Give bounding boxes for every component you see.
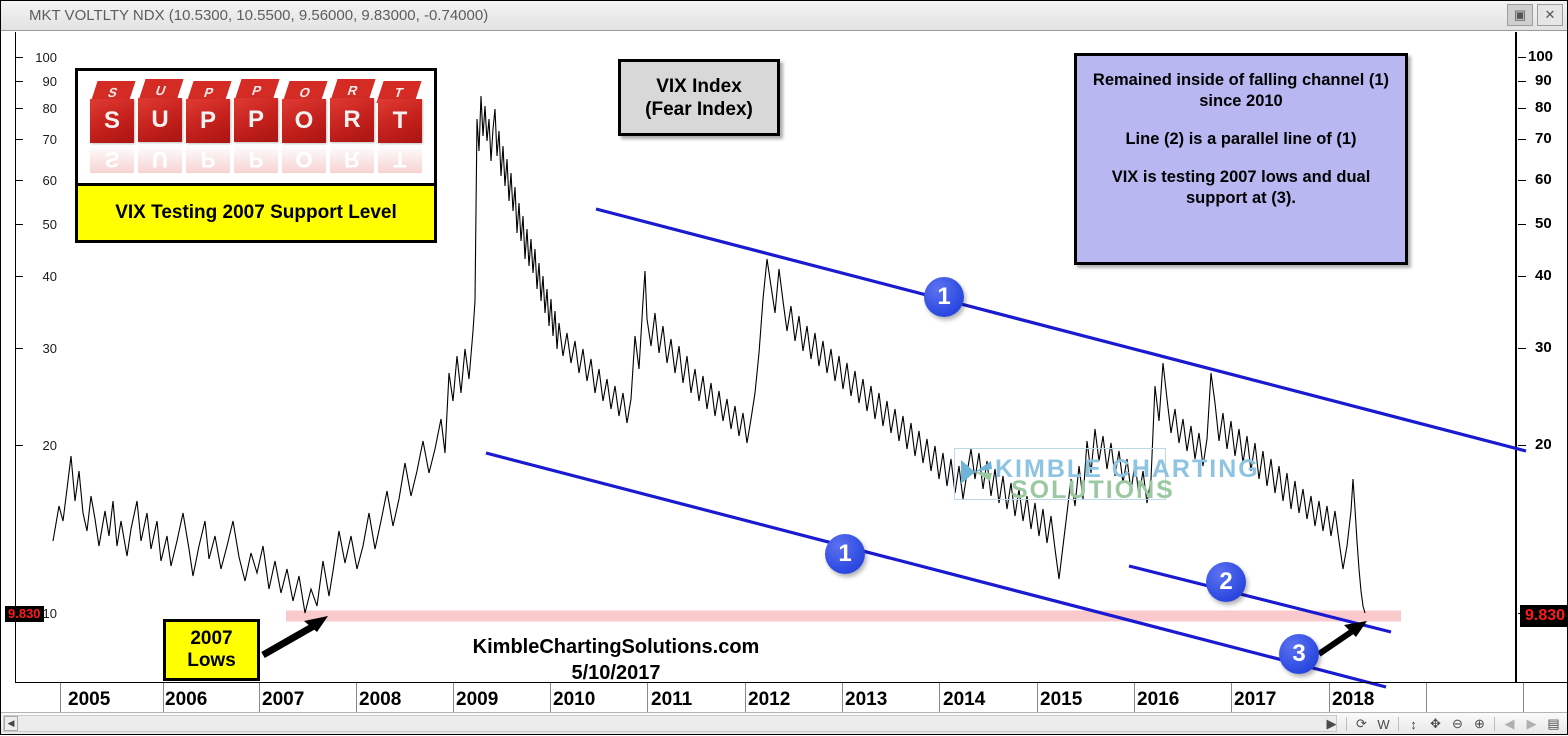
- bottom-toolbar: ◀ ▶ ⟳ W ↕ ✥ ⊖ ⊕ ◀ ▶ ▤: [1, 712, 1567, 734]
- support-blocks-image: S U P P O R T S U P P O R T S U P P O R …: [78, 71, 434, 177]
- y-tick-label-left-30: 30: [23, 341, 57, 356]
- x-year-2005: 2005: [68, 689, 110, 711]
- last-price-tag-left: 9.830: [5, 606, 44, 622]
- prev-icon[interactable]: ◀: [1500, 715, 1519, 733]
- window-title-bar: MKT VOLTLTY NDX (10.5300, 10.5500, 9.560…: [1, 1, 1567, 31]
- horizontal-scrollbar[interactable]: [3, 715, 1337, 732]
- cube-reflection-t: T: [378, 145, 422, 173]
- lows-line1: 2007: [190, 628, 232, 650]
- cube-face-r: R: [330, 98, 374, 142]
- x-year-2016: 2016: [1137, 689, 1179, 711]
- marker-1-upper: 1: [924, 277, 964, 317]
- x-year-2017: 2017: [1234, 689, 1276, 711]
- toolbar-separator-3: [1494, 717, 1495, 731]
- support-caption: VIX Testing 2007 Support Level: [78, 183, 434, 240]
- info-paragraph-3: VIX is testing 2007 lows and dual suppor…: [1089, 167, 1393, 209]
- credit-site: KimbleChartingSolutions.com: [471, 634, 761, 660]
- y-tick-label-left-80: 80: [23, 101, 57, 116]
- restore-window-icon[interactable]: ▣: [1507, 4, 1533, 26]
- x-year-2014: 2014: [943, 689, 985, 711]
- cube-face-t: T: [378, 99, 422, 143]
- y-tick-label-right-100: 100: [1528, 48, 1568, 65]
- x-year-2012: 2012: [748, 689, 790, 711]
- symbol-quote-title: MKT VOLTLTY NDX (10.5300, 10.5500, 9.560…: [29, 7, 488, 24]
- cube-reflection-o: O: [282, 145, 326, 173]
- next-icon[interactable]: ▶: [1522, 715, 1541, 733]
- cube-face-p2: P: [234, 98, 278, 142]
- 2007-lows-label-box: 2007 Lows: [163, 619, 260, 681]
- y-tick-label-left-60: 60: [23, 173, 57, 188]
- marker-3: 3: [1279, 634, 1319, 674]
- x-year-2007: 2007: [262, 689, 304, 711]
- y-tick-label-right-20: 20: [1535, 436, 1568, 453]
- toolbar-separator-1: [1346, 717, 1347, 731]
- marker-1-lower: 1: [825, 534, 865, 574]
- kimble-logo-icon: [959, 457, 993, 487]
- scroll-right-icon[interactable]: ▶: [1322, 715, 1341, 733]
- y-tick-label-right-30: 30: [1535, 339, 1568, 356]
- marker-2: 2: [1206, 562, 1246, 602]
- y-tick-label-right-40: 40: [1535, 267, 1568, 284]
- y-tick-label-right-70: 70: [1535, 130, 1568, 147]
- x-year-2011: 2011: [651, 689, 692, 711]
- list-icon[interactable]: ▤: [1544, 715, 1563, 733]
- cube-reflection-p1: P: [186, 145, 230, 173]
- x-year-2008: 2008: [359, 689, 401, 711]
- cube-face-u: U: [138, 98, 182, 142]
- toolbar-buttons: ▶ ⟳ W ↕ ✥ ⊖ ⊕ ◀ ▶ ▤: [1322, 715, 1563, 733]
- analysis-info-box: Remained inside of falling channel (1) s…: [1074, 53, 1408, 265]
- watermark-line2: SOLUTIONS: [1011, 476, 1175, 505]
- refresh-icon[interactable]: ⟳: [1352, 715, 1371, 733]
- x-year-2018: 2018: [1332, 689, 1374, 711]
- y-tick-label-left-40: 40: [23, 269, 57, 284]
- cube-face-o: O: [282, 99, 326, 143]
- x-axis[interactable]: 2005 2006 2007 2008 2009 2010 2011 2012 …: [15, 682, 1568, 716]
- vix-index-line2: (Fear Index): [645, 98, 753, 121]
- zoom-out-icon[interactable]: ⊖: [1448, 715, 1467, 733]
- window-controls: ▣ ✕: [1507, 4, 1563, 26]
- y-tick-label-left-70: 70: [23, 132, 57, 147]
- x-year-2006: 2006: [165, 689, 207, 711]
- y-tick-label-right-80: 80: [1535, 99, 1568, 116]
- vix-index-line1: VIX Index: [656, 75, 742, 98]
- vix-index-label-box: VIX Index (Fear Index): [618, 59, 780, 136]
- x-year-2010: 2010: [553, 689, 595, 711]
- scroll-left-icon[interactable]: ◀: [4, 716, 18, 731]
- zoom-in-icon[interactable]: ⊕: [1470, 715, 1489, 733]
- x-year-2013: 2013: [845, 689, 887, 711]
- last-price-tag-right: 9.830: [1520, 605, 1568, 627]
- close-icon[interactable]: ✕: [1537, 4, 1563, 26]
- y-tick-label-right-50: 50: [1535, 215, 1568, 232]
- cube-face-s: S: [90, 99, 134, 143]
- cube-face-p1: P: [186, 99, 230, 143]
- y-tick-label-right-60: 60: [1535, 171, 1568, 188]
- support-graphic-card: S U P P O R T S U P P O R T S U P P O R …: [75, 68, 437, 243]
- toolbar-separator-2: [1398, 717, 1399, 731]
- move-icon[interactable]: ✥: [1426, 715, 1445, 733]
- credit-block: KimbleChartingSolutions.com 5/10/2017: [471, 634, 761, 686]
- y-tick-label-left-90: 90: [23, 74, 57, 89]
- weekly-interval-button[interactable]: W: [1374, 715, 1393, 733]
- cube-reflection-p2: P: [234, 145, 278, 173]
- kimble-watermark: KIMBLE CHARTING SOLUTIONS: [954, 448, 1166, 500]
- y-tick-label-left-100: 100: [23, 50, 57, 65]
- x-year-2015: 2015: [1040, 689, 1082, 711]
- x-year-2009: 2009: [456, 689, 498, 711]
- vertical-resize-icon[interactable]: ↕: [1404, 715, 1423, 733]
- cube-reflection-r: R: [330, 145, 374, 173]
- y-axis-left-line: [15, 32, 16, 682]
- cube-reflection-u: U: [138, 145, 182, 173]
- cube-reflection-s: S: [90, 145, 134, 173]
- chart-application-window: MKT VOLTLTY NDX (10.5300, 10.5500, 9.560…: [0, 0, 1568, 735]
- y-axis-right-line: [1515, 32, 1517, 682]
- y-tick-label-left-50: 50: [23, 217, 57, 232]
- info-paragraph-1: Remained inside of falling channel (1) s…: [1089, 70, 1393, 112]
- y-tick-label-left-20: 20: [23, 438, 57, 453]
- lows-line2: Lows: [187, 650, 236, 672]
- y-tick-label-right-90: 90: [1535, 72, 1568, 89]
- info-paragraph-2: Line (2) is a parallel line of (1): [1089, 129, 1393, 150]
